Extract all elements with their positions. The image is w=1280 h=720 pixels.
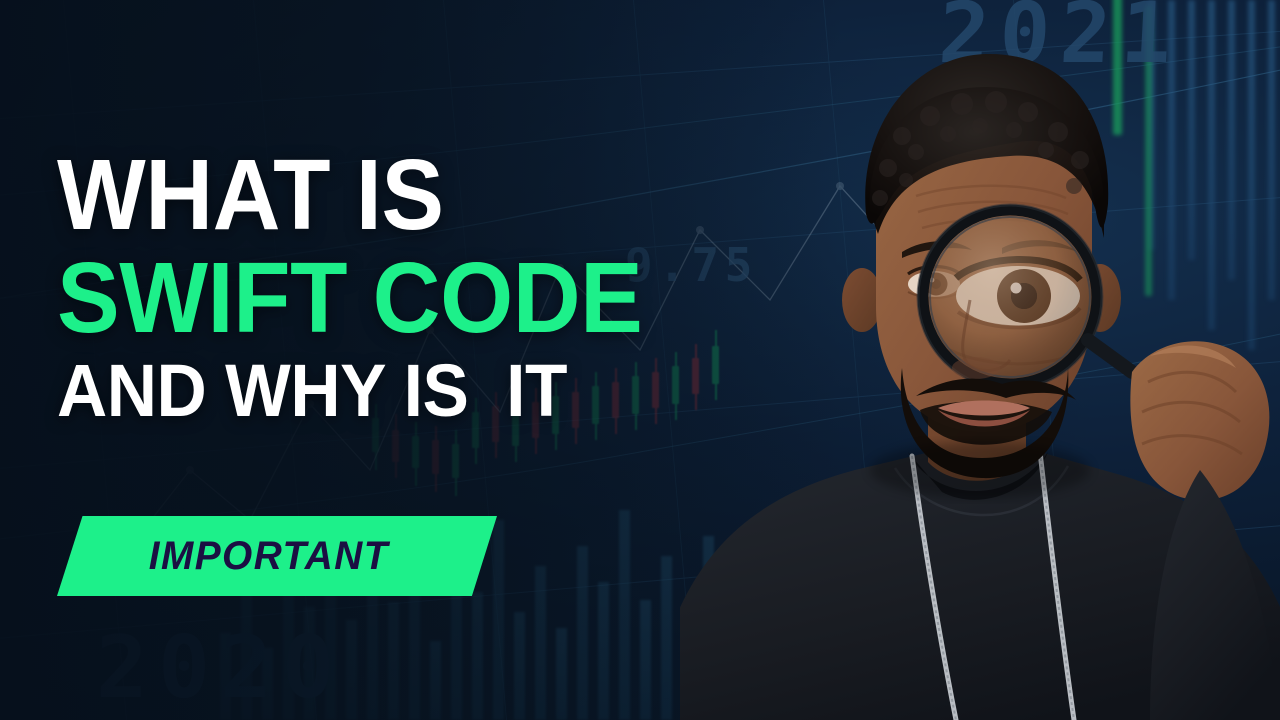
thumbnail-canvas: 2021 9.75 2020 [0,0,1280,720]
headline-line-2-accent: SWIFT CODE [57,251,828,346]
headline-line-3: AND WHY IS IT [57,356,828,426]
important-badge-label: IMPORTANT [149,534,389,579]
headline-block: WHAT IS SWIFT CODE AND WHY IS IT [57,148,877,426]
headline-line-1: WHAT IS [57,148,828,243]
important-badge: IMPORTANT [57,516,497,596]
important-badge-wrap: IMPORTANT [57,516,497,596]
